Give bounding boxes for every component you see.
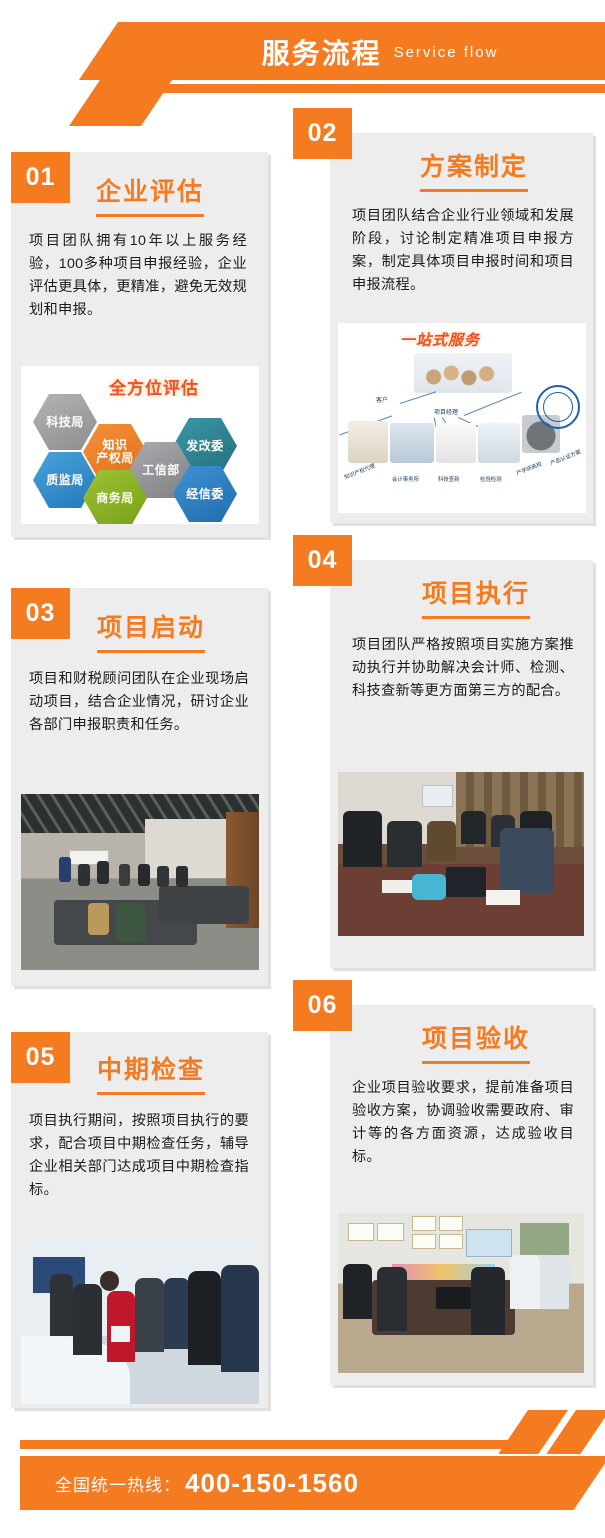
card-02[interactable]: 方案制定 项目团队结合企业行业领域和发展阶段，讨论制定精准项目申报方案，制定具体… <box>330 133 593 523</box>
one-stop-service-caption: 一站式服务 <box>400 329 480 350</box>
hotline[interactable]: 全国统一热线： 400-150-1560 <box>55 1456 359 1510</box>
photo-tech-search <box>436 423 476 463</box>
label-university-research: 产学研高校 <box>515 459 543 477</box>
card-01-number-badge: 01 <box>11 152 70 203</box>
card-04-media-photo <box>338 772 584 936</box>
label-accounting-firm: 会计事务所 <box>392 475 419 483</box>
page-title-cn: 服务流程 <box>262 32 382 72</box>
label-tech-search: 科技查新 <box>438 475 460 483</box>
hotline-label: 全国统一热线： <box>55 1471 181 1496</box>
hotline-number: 400-150-1560 <box>185 1468 359 1499</box>
label-ip-agency: 知识产权代理 <box>343 461 376 481</box>
card-03-number-badge: 03 <box>11 588 70 639</box>
card-06-title: 项目验收 <box>422 1019 530 1064</box>
card-05-number-badge: 05 <box>11 1032 70 1083</box>
hexagon-keji-ju: 科技局 <box>33 394 97 450</box>
card-03-body: 项目和财税顾问团队在企业现场启动项目，结合企业情况，研讨企业各部门申报职责和任务… <box>29 668 249 737</box>
card-01-media-hexagon-diagram: 全方位评估 科技局 知识 产权局 发改委 质监局 工信部 商务局 经信委 <box>21 366 259 524</box>
card-01-title: 企业评估 <box>96 172 204 217</box>
one-stop-central-photo <box>414 353 512 393</box>
arrow-customer-to-pm <box>400 391 437 404</box>
card-02-media-one-stop-service: 一站式服务 客户 项目经理 知识产权代理 会计事务所 科技查新 检验检测 产学研 <box>338 323 586 513</box>
page-footer: 全国统一热线： 400-150-1560 <box>0 1408 605 1538</box>
page-title: 服务流程 Service flow <box>170 26 590 78</box>
header-stripe <box>160 84 605 93</box>
card-05-media-photo <box>21 1242 259 1404</box>
service-flow-poster: 服务流程 Service flow 企业评估 项目团队拥有10年以上服务经验，1… <box>0 0 605 1538</box>
card-04[interactable]: 项目执行 项目团队严格按照项目实施方案推动执行并协助解决会计师、检测、科技查新等… <box>330 560 593 968</box>
photo-ip-agency <box>348 421 388 463</box>
card-01[interactable]: 企业评估 项目团队拥有10年以上服务经验，100多种项目申报经验，企业评估更具体… <box>11 152 268 537</box>
card-05-body: 项目执行期间，按照项目执行的要求，配合项目中期检查任务，辅导企业相关部门达成项目… <box>29 1110 249 1202</box>
arrow-pm-upright <box>464 392 522 417</box>
card-06-number-badge: 06 <box>293 980 352 1031</box>
iso-seal-icon <box>536 385 580 429</box>
card-01-body: 项目团队拥有10年以上服务经验，100多种项目申报经验，企业评估更具体，更精准，… <box>29 230 247 322</box>
card-06-body: 企业项目验收要求，提前准备项目验收方案，协调验收需要政府、审计等的各方面资源，达… <box>352 1077 574 1169</box>
hexagon-diagram-caption: 全方位评估 <box>109 374 199 399</box>
header-chevron-shape-secondary <box>69 80 172 126</box>
card-04-title: 项目执行 <box>422 574 530 619</box>
card-06[interactable]: 项目验收 企业项目验收要求，提前准备项目验收方案，协调验收需要政府、审计等的各方… <box>330 1005 593 1385</box>
card-06-media-photo <box>338 1213 584 1373</box>
card-05-title: 中期检查 <box>97 1050 205 1095</box>
label-inspection: 检验检测 <box>480 475 502 483</box>
card-02-title: 方案制定 <box>420 147 528 192</box>
card-03-media-photo <box>21 794 259 970</box>
node-label-customer: 客户 <box>376 395 388 404</box>
card-03[interactable]: 项目启动 项目和财税顾问团队在企业现场启动项目，结合企业情况，研讨企业各部门申报… <box>11 588 268 986</box>
node-label-project-manager: 项目经理 <box>434 407 458 416</box>
footer-stripe <box>20 1440 532 1449</box>
card-04-number-badge: 04 <box>293 535 352 586</box>
photo-inspection <box>478 423 520 463</box>
page-header: 服务流程 Service flow <box>0 0 605 110</box>
card-05[interactable]: 中期检查 项目执行期间，按照项目执行的要求，配合项目中期检查任务，辅导企业相关部… <box>11 1032 268 1408</box>
photo-accounting-firm <box>390 423 434 463</box>
card-02-body: 项目团队结合企业行业领域和发展阶段，讨论制定精准项目申报方案，制定具体项目申报时… <box>352 205 574 297</box>
card-04-body: 项目团队严格按照项目实施方案推动执行并协助解决会计师、检测、科技查新等更方面第三… <box>352 634 574 703</box>
card-02-number-badge: 02 <box>293 108 352 159</box>
card-03-title: 项目启动 <box>97 608 205 653</box>
page-title-en: Service flow <box>394 44 499 61</box>
